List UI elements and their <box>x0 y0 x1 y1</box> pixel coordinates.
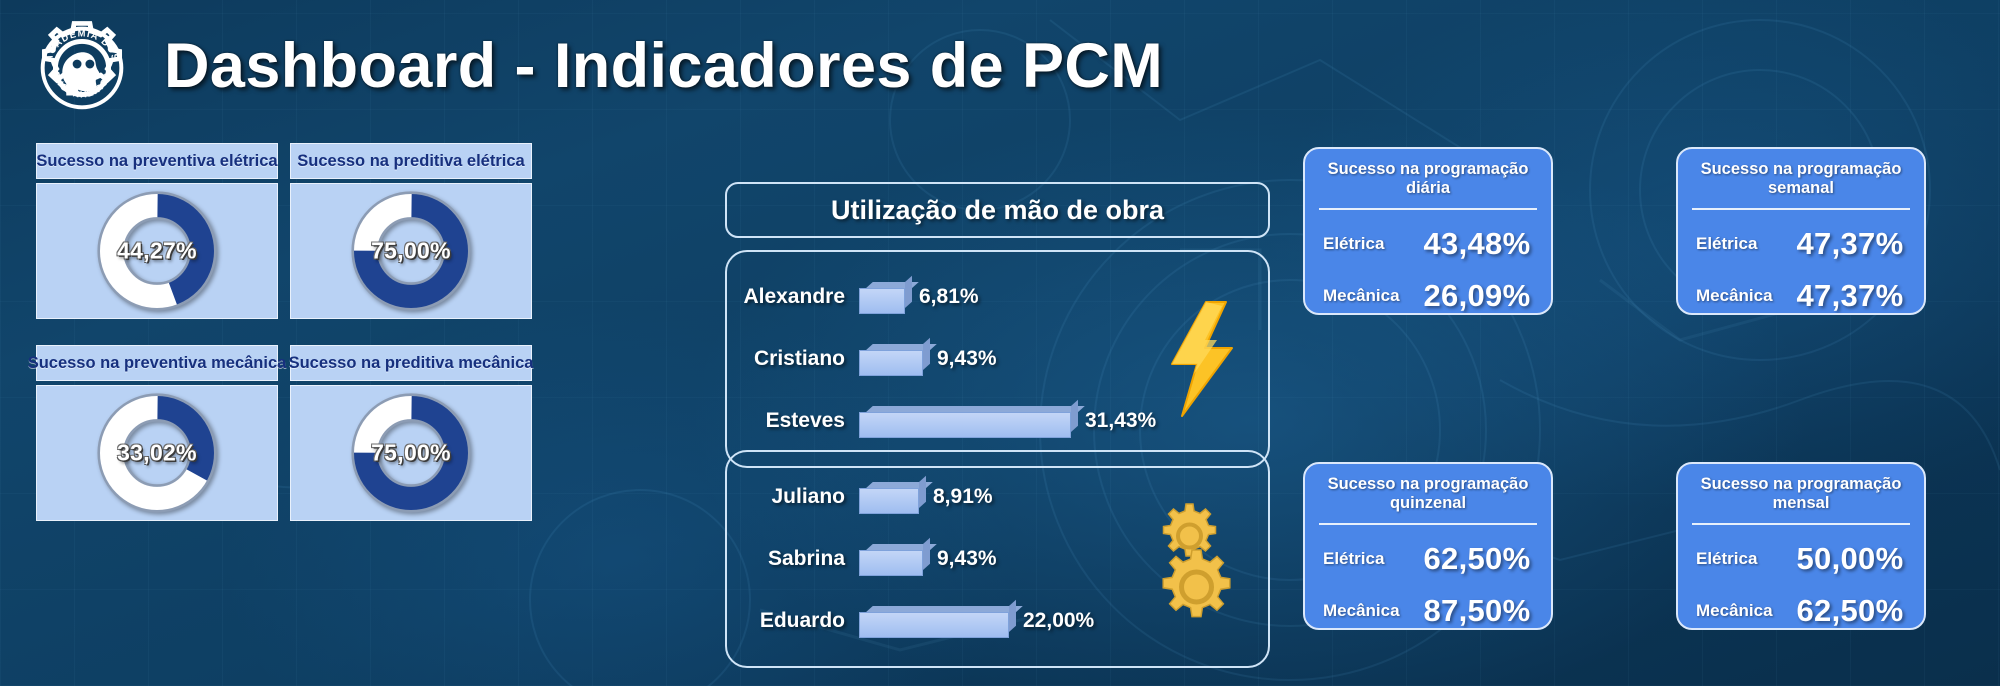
kpi-row: Mecânica 47,37% <box>1678 278 1924 314</box>
kpi-row-label: Mecânica <box>1323 286 1421 306</box>
kpi-row: Elétrica 62,50% <box>1305 541 1551 577</box>
kpi-row: Mecânica 62,50% <box>1678 593 1924 629</box>
kpi-divider <box>1319 523 1537 525</box>
card-preditiva-mecanica[interactable]: Sucesso na preditiva mecânica 75,00% <box>290 345 532 521</box>
bar-value: 22,00% <box>1023 609 1094 633</box>
kpi-title: Sucesso na programação mensal <box>1678 475 1924 514</box>
kpi-divider <box>1692 523 1910 525</box>
donut-preditiva-mecanica: 75,00% <box>351 393 471 513</box>
kpi-title: Sucesso na programação quinzenal <box>1305 475 1551 514</box>
page-title: Dashboard - Indicadores de PCM <box>164 30 1163 102</box>
donut-value-label: 75,00% <box>351 238 471 265</box>
kpi-programacao-semanal[interactable]: Sucesso na programação semanal Elétrica … <box>1676 147 1926 315</box>
card-body: 75,00% <box>290 385 532 521</box>
kpi-row-label: Elétrica <box>1696 234 1794 254</box>
bar-value: 31,43% <box>1085 409 1156 433</box>
labor-bar-panel-mechanical: Juliano 8,91% Sabrina 9,43% Eduardo 22,0… <box>725 450 1270 668</box>
kpi-row-value: 47,37% <box>1794 278 1906 314</box>
kpi-row-label: Elétrica <box>1323 549 1421 569</box>
dashboard-root: ACADEMIA DOS ENGENHEIROS Dashboard - Ind… <box>0 0 2000 686</box>
bar-shape <box>859 406 1071 436</box>
card-title: Sucesso na preventiva mecânica <box>36 345 278 381</box>
bar-value: 6,81% <box>919 285 979 309</box>
labor-bar-panel-electrical: Alexandre 6,81% Cristiano 9,43% Esteves … <box>725 250 1270 468</box>
bar-label: Eduardo <box>727 609 859 633</box>
kpi-row: Elétrica 50,00% <box>1678 541 1924 577</box>
card-preventiva-mecanica[interactable]: Sucesso na preventiva mecânica 33,02% <box>36 345 278 521</box>
donut-preventiva-eletrica: 44,27% <box>97 191 217 311</box>
bar-label: Sabrina <box>727 547 859 571</box>
dashboard-header: ACADEMIA DOS ENGENHEIROS Dashboard - Ind… <box>0 0 2000 132</box>
kpi-row-value: 87,50% <box>1421 593 1533 629</box>
kpi-divider <box>1319 208 1537 210</box>
kpi-row: Elétrica 43,48% <box>1305 226 1551 262</box>
bar-value: 8,91% <box>933 485 993 509</box>
card-body: 44,27% <box>36 183 278 319</box>
kpi-programacao-quinzenal[interactable]: Sucesso na programação quinzenal Elétric… <box>1303 462 1553 630</box>
bar-label: Alexandre <box>727 285 859 309</box>
bar-shape <box>859 344 923 374</box>
donut-preventiva-mecanica: 33,02% <box>97 393 217 513</box>
card-body: 33,02% <box>36 385 278 521</box>
donut-value-label: 44,27% <box>97 238 217 265</box>
bar-value: 9,43% <box>937 547 997 571</box>
bar-shape <box>859 482 919 512</box>
kpi-row-label: Mecânica <box>1696 286 1794 306</box>
bar-label: Cristiano <box>727 347 859 371</box>
academia-dos-engenheiros-logo: ACADEMIA DOS ENGENHEIROS <box>22 7 142 125</box>
kpi-row-label: Mecânica <box>1696 601 1794 621</box>
kpi-programacao-diaria[interactable]: Sucesso na programação diária Elétrica 4… <box>1303 147 1553 315</box>
kpi-row: Mecânica 26,09% <box>1305 278 1551 314</box>
kpi-row-label: Elétrica <box>1696 549 1794 569</box>
bar-shape <box>859 282 905 312</box>
bar-label: Juliano <box>727 485 859 509</box>
kpi-row-label: Elétrica <box>1323 234 1421 254</box>
kpi-row: Elétrica 47,37% <box>1678 226 1924 262</box>
donut-value-label: 75,00% <box>351 440 471 467</box>
card-preventiva-eletrica[interactable]: Sucesso na preventiva elétrica 44,27% <box>36 143 278 319</box>
kpi-row-label: Mecânica <box>1323 601 1421 621</box>
kpi-title: Sucesso na programação semanal <box>1678 160 1924 199</box>
card-body: 75,00% <box>290 183 532 319</box>
card-preditiva-eletrica[interactable]: Sucesso na preditiva elétrica 75,00% <box>290 143 532 319</box>
kpi-row: Mecânica 87,50% <box>1305 593 1551 629</box>
bar-label: Esteves <box>727 409 859 433</box>
kpi-row-value: 62,50% <box>1421 541 1533 577</box>
kpi-programacao-mensal[interactable]: Sucesso na programação mensal Elétrica 5… <box>1676 462 1926 630</box>
card-title: Sucesso na preditiva mecânica <box>290 345 532 381</box>
donut-value-label: 33,02% <box>97 440 217 467</box>
kpi-row-value: 26,09% <box>1421 278 1533 314</box>
kpi-divider <box>1692 208 1910 210</box>
card-title: Sucesso na preventiva elétrica <box>36 143 278 179</box>
bar-shape <box>859 544 923 574</box>
kpi-row-value: 50,00% <box>1794 541 1906 577</box>
kpi-row-value: 47,37% <box>1794 226 1906 262</box>
bar-value: 9,43% <box>937 347 997 371</box>
kpi-row-value: 62,50% <box>1794 593 1906 629</box>
bar-shape <box>859 606 1009 636</box>
kpi-row-value: 43,48% <box>1421 226 1533 262</box>
lightning-bolt-icon <box>1160 300 1242 418</box>
donut-preditiva-eletrica: 75,00% <box>351 191 471 311</box>
gears-icon <box>1146 500 1242 618</box>
card-title: Sucesso na preditiva elétrica <box>290 143 532 179</box>
labor-panel-title: Utilização de mão de obra <box>725 182 1270 238</box>
kpi-title: Sucesso na programação diária <box>1305 160 1551 199</box>
